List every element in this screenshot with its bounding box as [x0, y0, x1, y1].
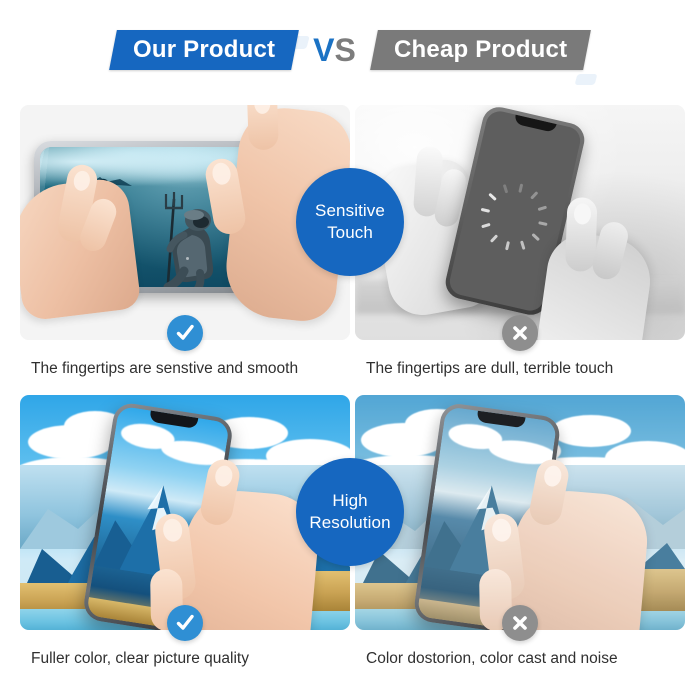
- panel-cheap-product-resolution: [355, 395, 685, 630]
- cheap-product-banner: Cheap Product: [370, 30, 591, 70]
- feature-badge-high-resolution: High Resolution: [296, 458, 404, 566]
- badge-line-2: Touch: [327, 222, 373, 244]
- versus-v: V: [313, 32, 334, 68]
- cross-icon: [502, 605, 538, 641]
- caption-cheap-product-resolution: Color dostorion, color cast and noise: [366, 651, 618, 667]
- decorative-fleck: [575, 74, 598, 85]
- fingernail: [213, 464, 234, 488]
- scene-loading-phone: [355, 105, 685, 340]
- fingernail: [491, 518, 513, 543]
- panel-cheap-product-touch: [355, 105, 685, 340]
- check-icon: [167, 605, 203, 641]
- comparison-header: Our Product VS Cheap Product: [0, 0, 700, 100]
- our-product-label: Our Product: [133, 38, 275, 62]
- versus-s: S: [334, 32, 355, 68]
- caption-our-product-touch: The fingertips are senstive and smooth: [31, 361, 298, 377]
- feature-badge-sensitive-touch: Sensitive Touch: [296, 168, 404, 276]
- fingernail: [542, 464, 563, 488]
- badge-line-1: High: [332, 490, 367, 512]
- fingernail: [211, 161, 233, 186]
- left-hand: [20, 176, 142, 321]
- our-product-banner: Our Product: [109, 30, 299, 70]
- versus-label: VS: [309, 34, 360, 66]
- fingernail: [574, 203, 592, 225]
- fingernail: [162, 518, 184, 543]
- finger: [247, 105, 279, 150]
- cross-icon: [502, 315, 538, 351]
- fingernail: [72, 169, 92, 192]
- badge-line-2: Resolution: [309, 512, 390, 534]
- caption-cheap-product-touch: The fingertips are dull, terrible touch: [366, 361, 613, 377]
- fingernail: [254, 105, 271, 114]
- check-icon: [167, 315, 203, 351]
- scene-mountain-washed: [355, 395, 685, 630]
- loading-spinner-icon: [497, 180, 538, 221]
- cloud: [551, 415, 631, 447]
- badge-line-1: Sensitive: [315, 200, 385, 222]
- caption-our-product-resolution: Fuller color, clear picture quality: [31, 651, 249, 667]
- cheap-product-label: Cheap Product: [394, 38, 567, 62]
